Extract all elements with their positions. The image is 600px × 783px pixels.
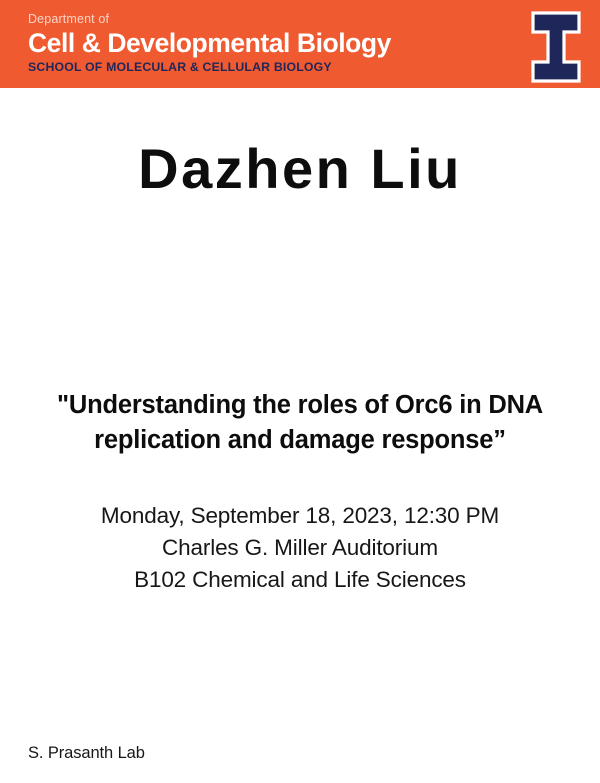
event-details-block: Monday, September 18, 2023, 12:30 PM Cha… — [0, 500, 600, 596]
department-name-title: Cell & Developmental Biology — [28, 29, 391, 58]
event-venue-building-line: B102 Chemical and Life Sciences — [0, 564, 600, 596]
department-prefix-label: Department of — [28, 12, 391, 27]
header-text-block: Department of Cell & Developmental Biolo… — [28, 12, 391, 75]
lab-affiliation-footer: S. Prasanth Lab — [28, 743, 145, 763]
illinois-block-i-logo — [531, 11, 581, 83]
speaker-name-heading: Dazhen Liu — [0, 138, 600, 200]
event-datetime-line: Monday, September 18, 2023, 12:30 PM — [0, 500, 600, 532]
event-venue-room-line: Charles G. Miller Auditorium — [0, 532, 600, 564]
school-name-subtitle: SCHOOL OF MOLECULAR & CELLULAR BIOLOGY — [28, 60, 391, 75]
department-header-banner: Department of Cell & Developmental Biolo… — [0, 0, 600, 88]
talk-title-heading: "Understanding the roles of Orc6 in DNA … — [0, 388, 600, 458]
